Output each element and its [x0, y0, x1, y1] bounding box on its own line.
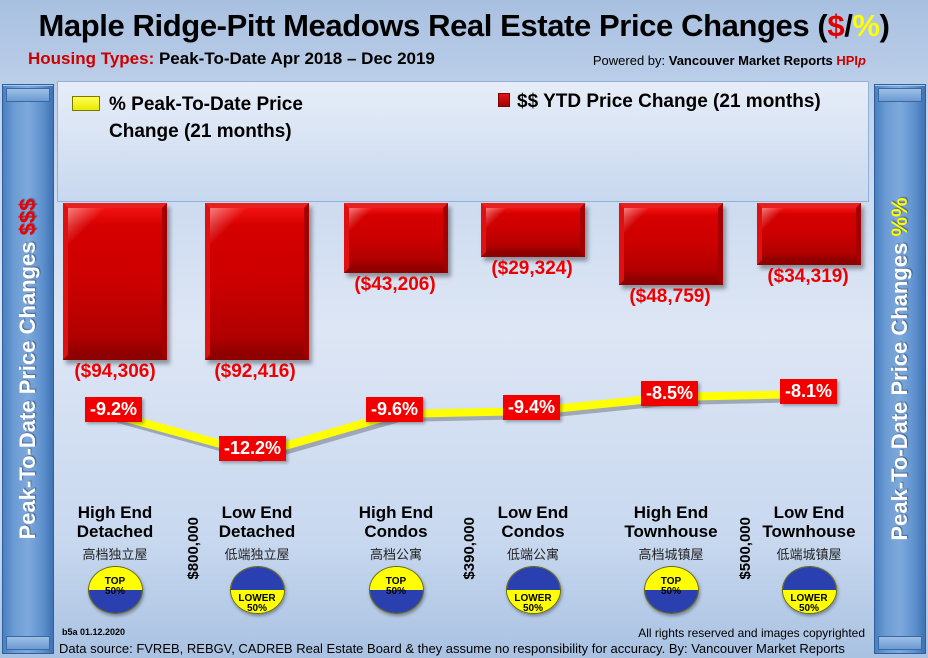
tier-badge-icon: TOP50% [369, 566, 424, 614]
category-axis: High End Detached高档独立屋TOP50%Low End Deta… [57, 503, 869, 628]
badge-label-line2: 50% [370, 587, 423, 597]
right-axis-title-bar: Peak-To-Date Price Changes %% [874, 84, 926, 654]
badge-label: LOWER50% [231, 594, 284, 614]
legend-item-dollar: $$ YTD Price Change (21 months) [498, 88, 821, 115]
percent-value-label: -9.2% [85, 397, 142, 422]
title-percent-symbol: % [852, 8, 879, 43]
category-name-chinese: 低端公寓 [481, 544, 585, 563]
tier-badge-icon: TOP50% [644, 566, 699, 614]
category-name: Low End Detached [205, 503, 309, 541]
badge-label-line2: 50% [507, 604, 560, 614]
percent-value-label: -12.2% [219, 436, 286, 461]
right-axis-percent-symbol: %% [887, 197, 912, 236]
left-axis-dollar-symbol: $$$ [15, 199, 40, 236]
legend-yellow-swatch-icon [72, 96, 100, 111]
axis-category-6: Low End Townhouse低端城镇屋LOWER50% [757, 503, 861, 614]
tier-badge-icon: TOP50% [88, 566, 143, 614]
category-name-chinese: 高档城镇屋 [619, 544, 723, 563]
axis-category-4: Low End Condos低端公寓LOWER50% [481, 503, 585, 614]
badge-label-line2: 50% [783, 604, 836, 614]
copyright-notice: All rights reserved and images copyright… [638, 626, 865, 640]
subtitle-label: Housing Types: [28, 49, 154, 68]
category-name: Low End Condos [481, 503, 585, 541]
percent-value-label: -9.6% [366, 397, 423, 422]
left-axis-title: Peak-To-Date Price Changes $$$ [15, 199, 41, 540]
chart-plot-area: ($94,306)($92,416)($43,206)($29,324)($48… [57, 203, 869, 503]
badge-label: TOP50% [370, 577, 423, 597]
hpi-suffix: p [858, 53, 866, 68]
badge-top-half [231, 567, 284, 590]
chart-header: Maple Ridge-Pitt Meadows Real Estate Pri… [0, 0, 928, 80]
sidebar-cap-top [878, 88, 922, 102]
sidebar-cap-bottom [6, 636, 50, 650]
badge-label: LOWER50% [507, 594, 560, 614]
page-title: Maple Ridge-Pitt Meadows Real Estate Pri… [0, 8, 928, 44]
right-axis-title: Peak-To-Date Price Changes %% [887, 197, 913, 540]
axis-category-5: High End Townhouse高档城镇屋TOP50% [619, 503, 723, 614]
price-threshold-tick: $800,000 [185, 517, 202, 580]
tier-badge-icon: LOWER50% [506, 566, 561, 614]
badge-label: TOP50% [645, 577, 698, 597]
axis-category-3: High End Condos高档公寓TOP50% [344, 503, 448, 614]
data-source-note: Data source: FVREB, REBGV, CADREB Real E… [59, 641, 845, 656]
percent-line-series [57, 203, 869, 503]
category-name: High End Detached [63, 503, 167, 541]
badge-label-line2: 50% [645, 587, 698, 597]
category-name: High End Condos [344, 503, 448, 541]
title-dollar-symbol: $ [827, 8, 844, 43]
hpi-badge: HPIp [836, 53, 866, 68]
legend-item-percent: % Peak-To-Date Price Change (21 months) [72, 91, 349, 145]
category-name: Low End Townhouse [757, 503, 861, 541]
axis-category-2: Low End Detached低端独立屋LOWER50% [205, 503, 309, 614]
legend-red-swatch-icon [498, 93, 510, 107]
badge-top-half [507, 567, 560, 590]
powered-by-credit: Powered by: Vancouver Market Reports HPI… [593, 53, 866, 68]
badge-label-line2: 50% [89, 587, 142, 597]
category-name-chinese: 低端城镇屋 [757, 544, 861, 563]
category-name-chinese: 高档独立屋 [63, 544, 167, 563]
tier-badge-icon: LOWER50% [782, 566, 837, 614]
axis-category-1: High End Detached高档独立屋TOP50% [63, 503, 167, 614]
percent-value-label: -8.1% [780, 379, 837, 404]
powered-by-brand: Vancouver Market Reports [669, 53, 837, 68]
badge-label-line2: 50% [231, 604, 284, 614]
revision-code: b5a 01.12.2020 [62, 627, 125, 637]
badge-label: LOWER50% [783, 594, 836, 614]
sidebar-cap-top [6, 88, 50, 102]
chart-subtitle: Housing Types: Peak-To-Date Apr 2018 – D… [28, 49, 435, 69]
percent-value-label: -9.4% [503, 395, 560, 420]
percent-value-label: -8.5% [641, 381, 698, 406]
left-axis-title-text: Peak-To-Date Price Changes [15, 235, 40, 539]
price-threshold-tick: $390,000 [461, 517, 478, 580]
title-main-text: Maple Ridge-Pitt Meadows Real Estate Pri… [38, 8, 827, 43]
legend-percent-label: % Peak-To-Date Price Change (21 months) [109, 91, 349, 145]
sidebar-cap-bottom [878, 636, 922, 650]
category-name-chinese: 高档公寓 [344, 544, 448, 563]
chart-footer: b5a 01.12.2020 All rights reserved and i… [57, 627, 869, 657]
hpi-text: HPI [836, 53, 858, 68]
right-axis-title-text: Peak-To-Date Price Changes [887, 237, 912, 541]
tier-badge-icon: LOWER50% [230, 566, 285, 614]
price-threshold-tick: $500,000 [737, 517, 754, 580]
left-axis-title-bar: Peak-To-Date Price Changes $$$ [2, 84, 54, 654]
chart-legend: % Peak-To-Date Price Change (21 months) … [57, 81, 869, 202]
powered-by-prefix: Powered by: [593, 53, 669, 68]
badge-top-half [783, 567, 836, 590]
badge-label: TOP50% [89, 577, 142, 597]
category-name-chinese: 低端独立屋 [205, 544, 309, 563]
title-close-paren: ) [880, 8, 890, 43]
legend-dollar-label: $$ YTD Price Change (21 months) [517, 88, 821, 115]
subtitle-period: Peak-To-Date Apr 2018 – Dec 2019 [154, 49, 435, 68]
category-name: High End Townhouse [619, 503, 723, 541]
